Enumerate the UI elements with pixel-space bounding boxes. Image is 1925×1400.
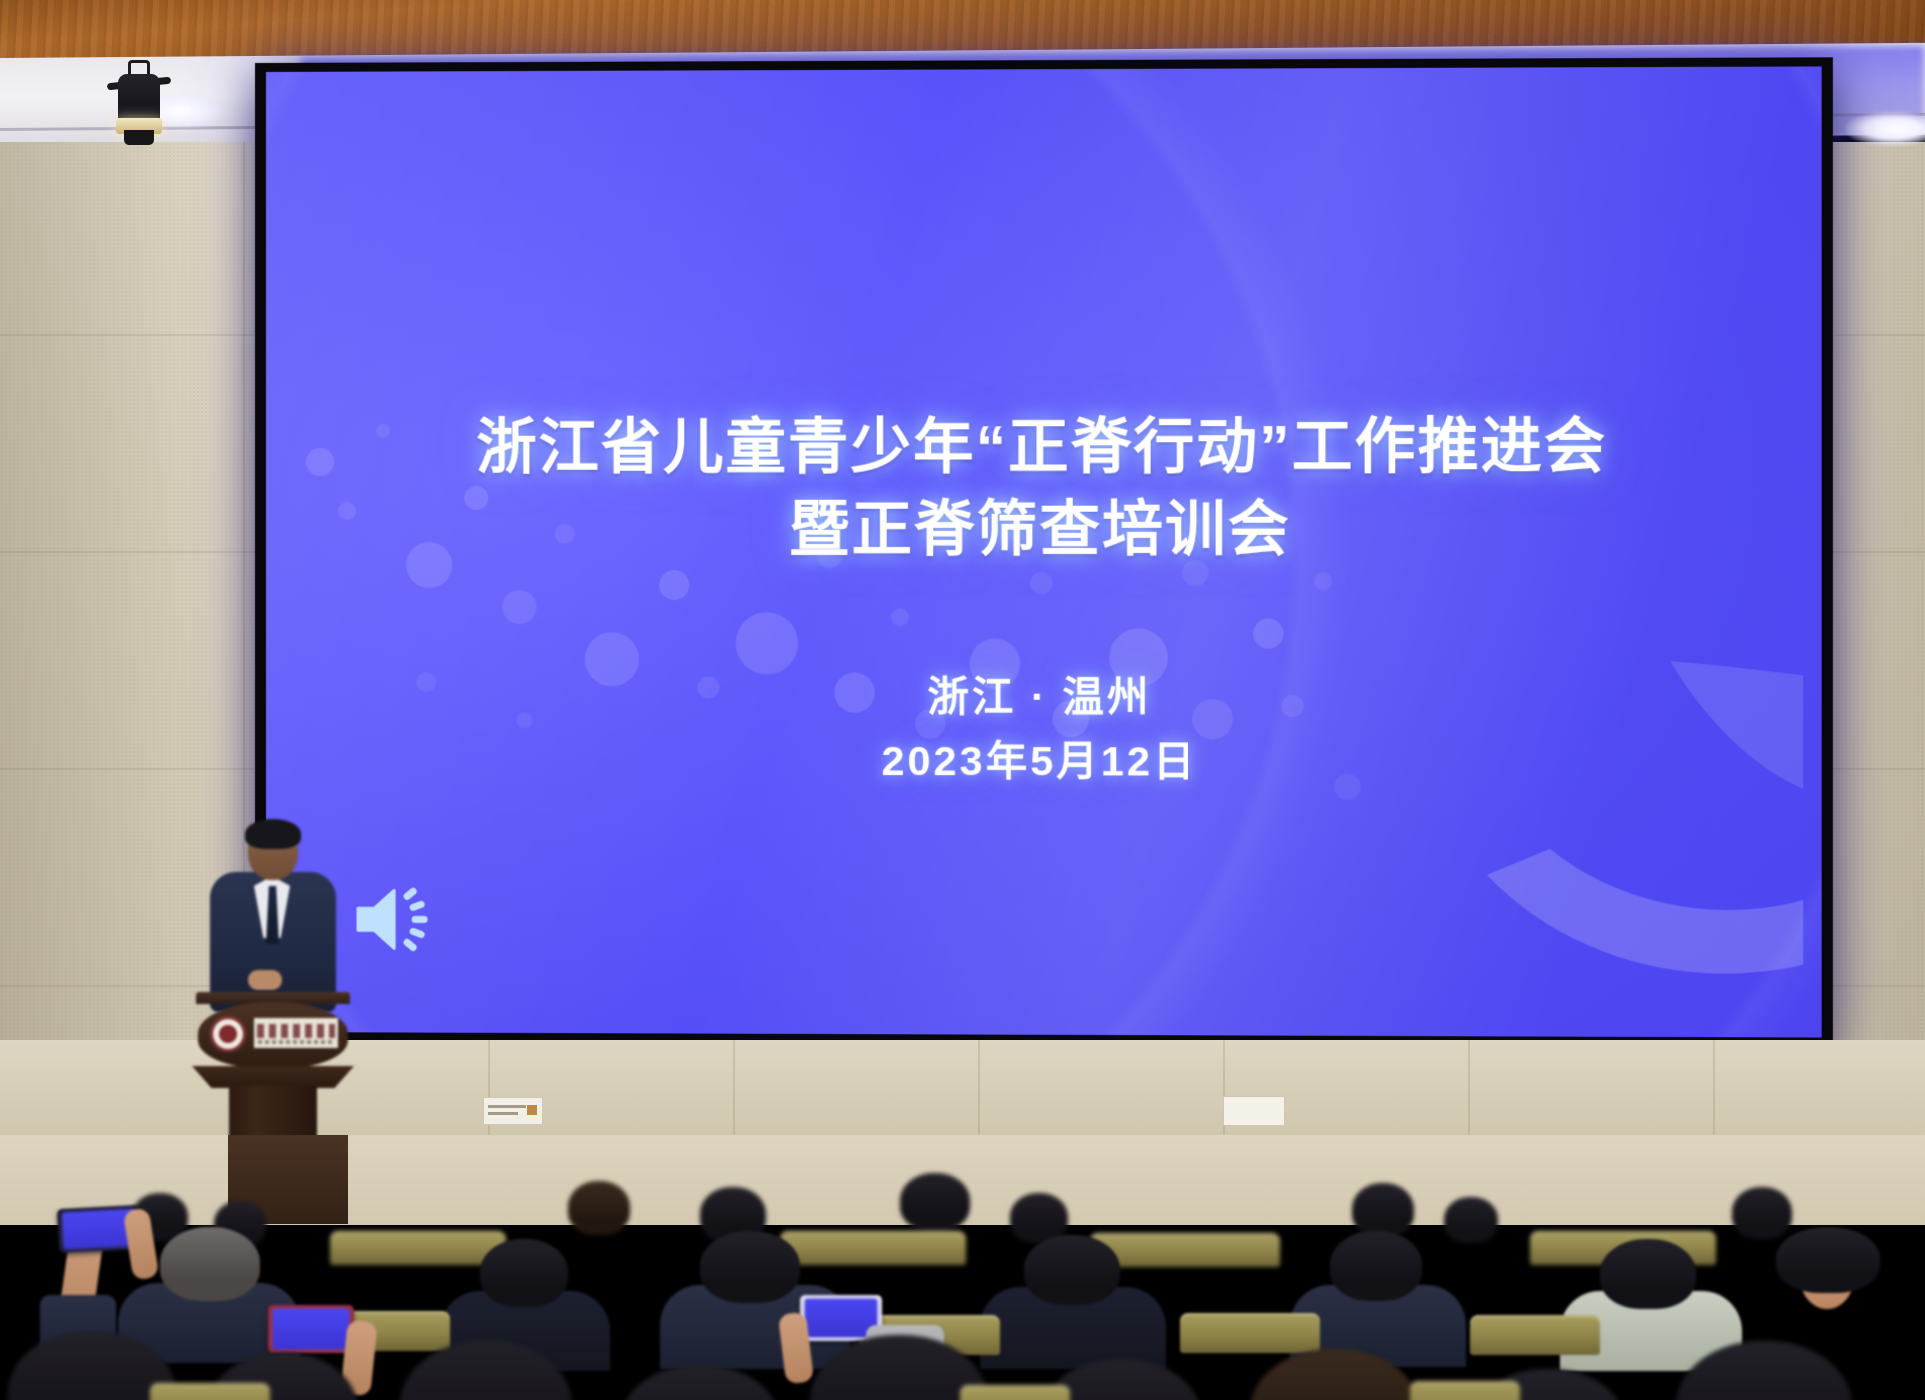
speaker-person	[196, 822, 346, 1012]
stage-spotlight	[110, 60, 168, 146]
slide-title: 浙江省儿童青少年“正脊行动”工作推进会	[266, 406, 1822, 487]
podium-name-plaque	[254, 1018, 338, 1048]
phone-camera	[268, 1305, 354, 1353]
podium-emblem-icon	[210, 1016, 246, 1052]
speaker-volume-icon	[352, 880, 438, 958]
slide-title-line2: 暨正脊筛查培训会	[266, 489, 1822, 569]
audience-area	[0, 1135, 1925, 1400]
screen-surface: 浙江省儿童青少年“正脊行动”工作推进会 暨正脊筛查培训会 浙江 · 温州 202…	[266, 66, 1822, 1037]
led-presentation-screen[interactable]: 浙江省儿童青少年“正脊行动”工作推进会 暨正脊筛查培训会 浙江 · 温州 202…	[255, 57, 1833, 1048]
slide-swoosh-decor	[1233, 661, 1803, 995]
wall-sign-plate	[1223, 1096, 1285, 1126]
conference-hall-photo: 浙江省儿童青少年“正脊行动”工作推进会 暨正脊筛查培训会 浙江 · 温州 202…	[0, 0, 1925, 1400]
wall-sign-plate	[483, 1097, 543, 1125]
recessed-light	[1845, 112, 1925, 146]
